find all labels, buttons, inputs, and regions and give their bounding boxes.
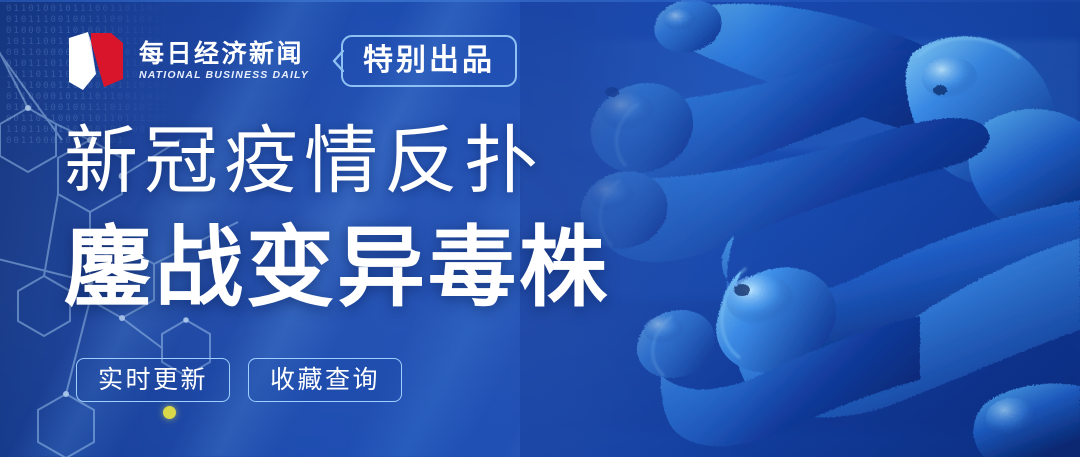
favorite-query-label: 收藏查询 <box>270 368 380 393</box>
molecule-node-dot <box>163 406 176 419</box>
headline-block: 新冠疫情反扑 鏖战变异毒株 <box>64 124 610 312</box>
brand-name-en: NATIONAL BUSINESS DAILY <box>139 70 309 81</box>
nbd-m-logo <box>66 30 126 92</box>
brand-text-block: 每日经济新闻 NATIONAL BUSINESS DAILY <box>139 42 309 81</box>
covid-variant-news-banner: 0110100101110011011000010111001001110011… <box>0 0 1080 457</box>
realtime-update-label: 实时更新 <box>98 368 208 393</box>
realtime-update-button[interactable]: 实时更新 <box>76 358 230 402</box>
badge-label: 特别出品 <box>363 46 495 76</box>
top-accent-line <box>0 0 1080 2</box>
headline-line-2: 鏖战变异毒株 <box>64 224 610 312</box>
banner-header: 每日经济新闻 NATIONAL BUSINESS DAILY 特别出品 <box>66 30 517 92</box>
favorite-query-button[interactable]: 收藏查询 <box>248 358 402 402</box>
brand-name-cn: 每日经济新闻 <box>139 42 309 69</box>
action-button-row: 实时更新 收藏查询 <box>76 358 402 402</box>
chevron-left-notch-icon <box>332 50 344 72</box>
special-production-badge[interactable]: 特别出品 <box>341 35 517 87</box>
headline-line-1: 新冠疫情反扑 <box>64 124 610 198</box>
headline-line-1-text: 新冠疫情反扑 <box>64 119 544 202</box>
nbd-logo-lockup[interactable]: 每日经济新闻 NATIONAL BUSINESS DAILY <box>66 30 309 92</box>
